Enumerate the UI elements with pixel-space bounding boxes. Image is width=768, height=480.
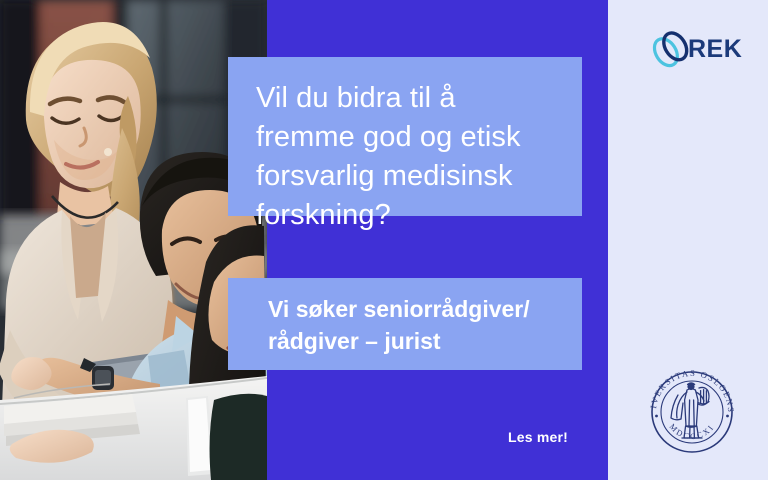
rek-wordmark: REK: [688, 35, 742, 64]
uio-seal: UNIVERSITAS OSLOENSIS MDCCCXI: [644, 364, 740, 460]
job-title-box: Vi søker seniorrådgiver/ rådgiver – juri…: [228, 278, 582, 370]
read-more-link[interactable]: Les mer!: [508, 429, 568, 445]
headline-box: Vil du bidra til å fremme god og etisk f…: [228, 57, 582, 216]
rek-logo[interactable]: REK: [648, 26, 748, 72]
headline-text: Vil du bidra til å fremme god og etisk f…: [256, 79, 556, 235]
team-collaboration-photo: [0, 0, 267, 480]
job-title-text: Vi søker seniorrådgiver/ rådgiver – juri…: [268, 293, 560, 357]
uio-seal-icon: UNIVERSITAS OSLOENSIS MDCCCXI: [644, 364, 740, 460]
photo-illustration: [0, 0, 267, 480]
recruitment-banner: Vil du bidra til å fremme god og etisk f…: [0, 0, 768, 480]
